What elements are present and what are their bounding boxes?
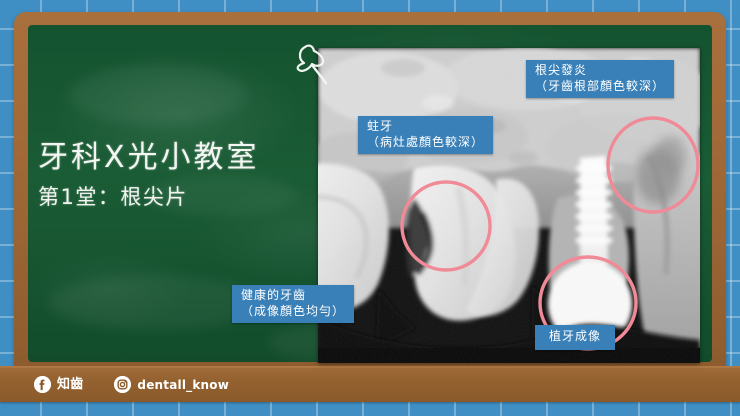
page-subtitle: 第1堂：根尖片 — [38, 187, 260, 208]
social-account-facebook[interactable]: 知齒 — [34, 376, 83, 393]
slide-canvas: 牙科X光小教室 第1堂：根尖片 — [0, 0, 740, 416]
label-line-2: （病灶處顏色較深） — [367, 135, 484, 151]
pushpin-icon — [292, 38, 334, 90]
annotation-label-implant: 植牙成像 — [535, 325, 615, 350]
label-line-1: 健康的牙齒 — [241, 288, 306, 302]
label-line-2: （牙齒根部顏色較深） — [535, 79, 665, 95]
social-accounts: 知齒 dentall_know — [34, 376, 229, 393]
annotation-label-caries: 蛀牙 （病灶處顏色較深） — [358, 116, 493, 154]
title-block: 牙科X光小教室 第1堂：根尖片 — [38, 143, 260, 208]
label-line-1: 根尖發炎 — [535, 63, 587, 77]
annotation-label-apical-inflammation: 根尖發炎 （牙齒根部顏色較深） — [526, 60, 674, 98]
label-line-2: （成像顏色均勻） — [241, 304, 345, 320]
instagram-handle: dentall_know — [137, 379, 229, 391]
instagram-icon — [114, 376, 131, 393]
chalk-smudge — [48, 275, 258, 330]
page-title: 牙科X光小教室 — [38, 143, 260, 173]
facebook-handle: 知齒 — [57, 378, 83, 391]
annotation-label-healthy-tooth: 健康的牙齒 （成像顏色均勻） — [232, 285, 354, 323]
social-account-instagram[interactable]: dentall_know — [114, 376, 229, 393]
chalk-smudge — [68, 65, 248, 125]
label-line-1: 植牙成像 — [549, 329, 601, 343]
facebook-icon — [34, 376, 51, 393]
label-line-1: 蛀牙 — [367, 119, 393, 133]
